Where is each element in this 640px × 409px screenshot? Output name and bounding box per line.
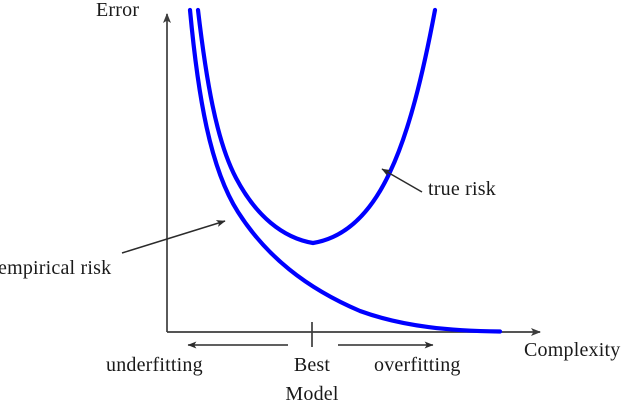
best-model-label-line2: Model bbox=[262, 384, 362, 404]
y-axis-label: Error bbox=[96, 0, 139, 20]
x-axis-label: Complexity bbox=[524, 340, 620, 360]
true-risk-label: true risk bbox=[428, 179, 496, 199]
empirical-risk-annotation-arrow bbox=[122, 221, 225, 253]
underfitting-label: underfitting bbox=[106, 355, 203, 375]
overfitting-label: overfitting bbox=[374, 355, 461, 375]
model-complexity-figure: Error Complexity true risk empirical ris… bbox=[0, 0, 640, 409]
empirical-risk-curve bbox=[190, 10, 500, 332]
best-model-label: Best Model bbox=[262, 355, 362, 404]
best-model-label-line1: Best bbox=[294, 354, 330, 376]
empirical-risk-label: empirical risk bbox=[0, 258, 111, 278]
